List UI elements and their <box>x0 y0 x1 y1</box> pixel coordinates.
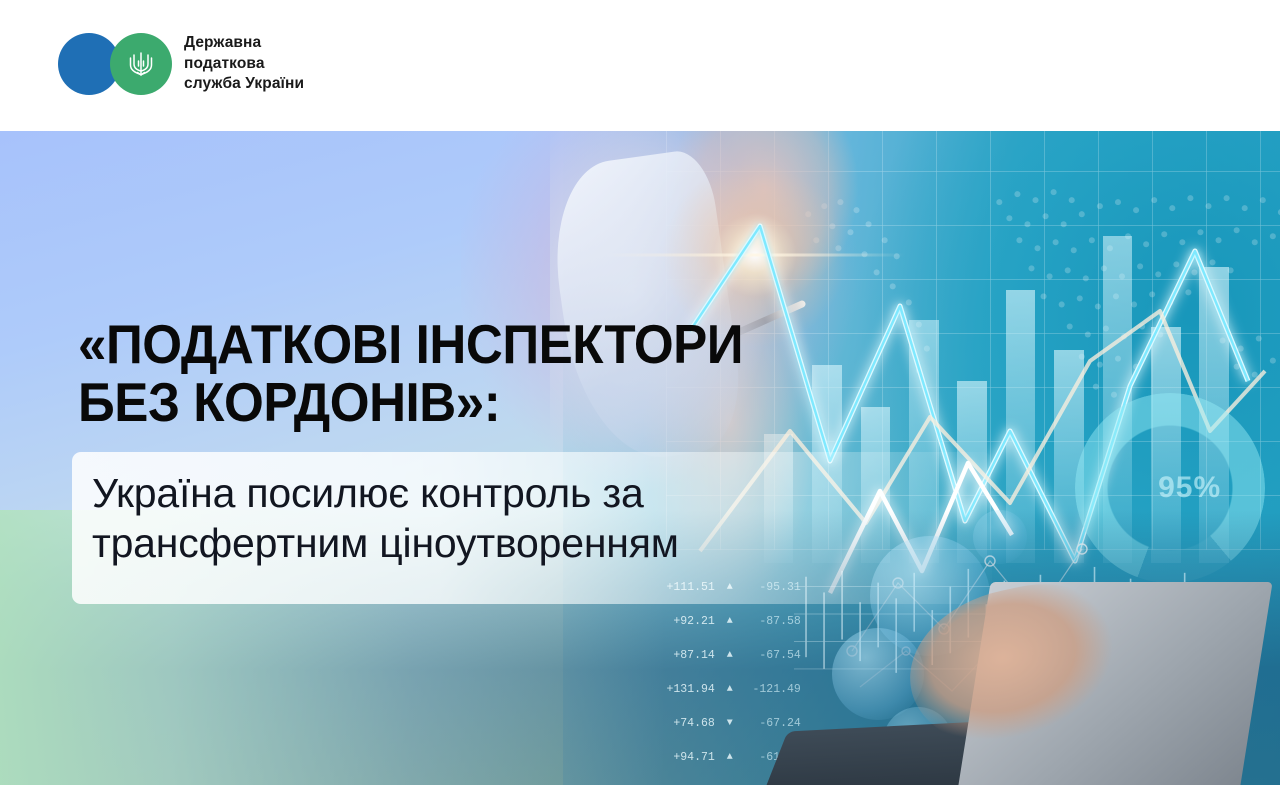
promo-banner: Державна податкова служба України <box>0 0 1280 785</box>
ticker-value: +131.94 <box>653 683 715 696</box>
ticker-delta: -67.24 <box>745 717 801 730</box>
ticker-value: +92.21 <box>653 615 715 628</box>
ticker-arrow-icon: ▼ <box>723 718 737 729</box>
ticker-delta: -87.58 <box>745 615 801 628</box>
tax-service-logo[interactable]: Державна податкова служба України <box>58 29 304 99</box>
ticker-delta: -67.54 <box>745 649 801 662</box>
ticker-value: +74.68 <box>653 717 715 730</box>
page-title: «ПОДАТКОВІ ІНСПЕКТОРИ БЕЗ КОРДОНІВ»: <box>78 316 743 432</box>
donut-percentage-label: 95% <box>1158 471 1221 505</box>
logo-text: Державна податкова служба України <box>184 33 304 95</box>
ticker-value: +87.14 <box>653 649 715 662</box>
ticker-arrow-icon: ▲ <box>723 752 737 763</box>
ticker-arrow-icon: ▲ <box>723 616 737 627</box>
logo-marks <box>58 29 180 99</box>
ticker-value: +94.71 <box>653 751 715 764</box>
ukraine-trident-icon <box>128 48 154 80</box>
green-circle-icon <box>110 33 172 95</box>
site-header: Державна податкова служба України <box>0 0 1280 131</box>
ticker-arrow-icon: ▲ <box>723 684 737 695</box>
ticker-delta: -121.49 <box>745 683 801 696</box>
page-subtitle: Україна посилює контроль за трансфертним… <box>92 468 992 569</box>
ticker-arrow-icon: ▲ <box>723 650 737 661</box>
